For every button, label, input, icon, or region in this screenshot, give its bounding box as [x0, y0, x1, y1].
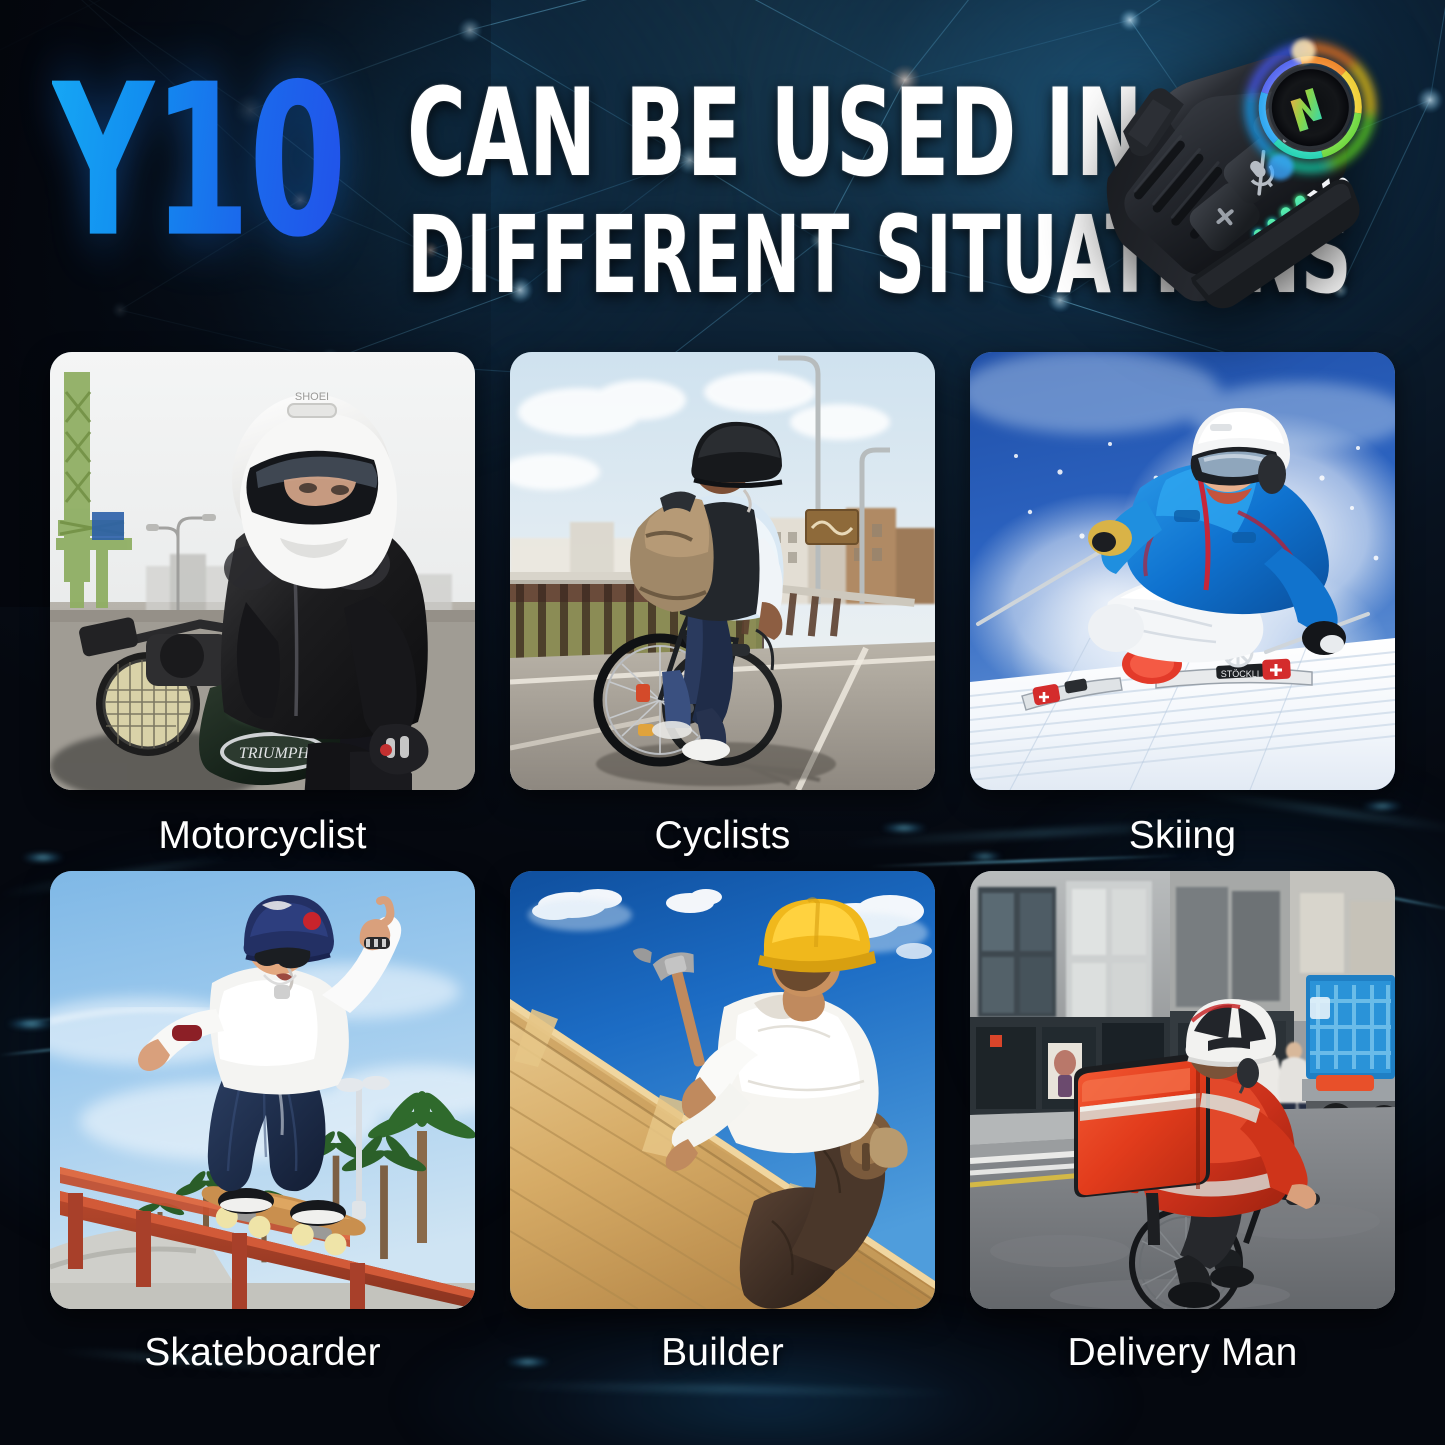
skateboarder-photo	[50, 871, 475, 1309]
situations-grid: TRIUMPH	[0, 352, 1445, 1375]
grid-cell-cyclists[interactable]: Cyclists	[510, 352, 935, 858]
cyclist-photo	[510, 352, 935, 790]
caption-delivery-man: Delivery Man	[970, 1331, 1395, 1375]
svg-text:TRIUMPH: TRIUMPH	[239, 745, 311, 762]
svg-text:SHOEI: SHOEI	[295, 391, 329, 403]
motorcyclist-photo: TRIUMPH	[50, 352, 475, 790]
grid-cell-skiing[interactable]: STÖCKLI	[970, 352, 1395, 858]
grid-cell-delivery-man[interactable]: Delivery Man	[970, 871, 1395, 1375]
svg-text:STÖCKLI: STÖCKLI	[1221, 669, 1260, 679]
caption-motorcyclist: Motorcyclist	[50, 814, 475, 858]
product-model-title: Y10	[52, 66, 345, 259]
headline-block: Y10 CAN BE USED IN DIFFERENT SITUATIONS	[52, 62, 1112, 288]
skiing-photo: STÖCKLI	[970, 352, 1395, 790]
header: Y10 CAN BE USED IN DIFFERENT SITUATIONS	[0, 0, 1445, 360]
grid-cell-builder[interactable]: Builder	[510, 871, 935, 1375]
grid-cell-motorcyclist[interactable]: TRIUMPH	[50, 352, 475, 858]
caption-skateboarder: Skateboarder	[50, 1331, 475, 1375]
caption-builder: Builder	[510, 1331, 935, 1375]
delivery-photo	[970, 871, 1395, 1309]
grid-cell-skateboarder[interactable]: Skateboarder	[50, 871, 475, 1375]
caption-cyclists: Cyclists	[510, 814, 935, 858]
product-image-y10-intercom: 10	[1039, 14, 1439, 364]
builder-photo	[510, 871, 935, 1309]
caption-skiing: Skiing	[970, 814, 1395, 858]
